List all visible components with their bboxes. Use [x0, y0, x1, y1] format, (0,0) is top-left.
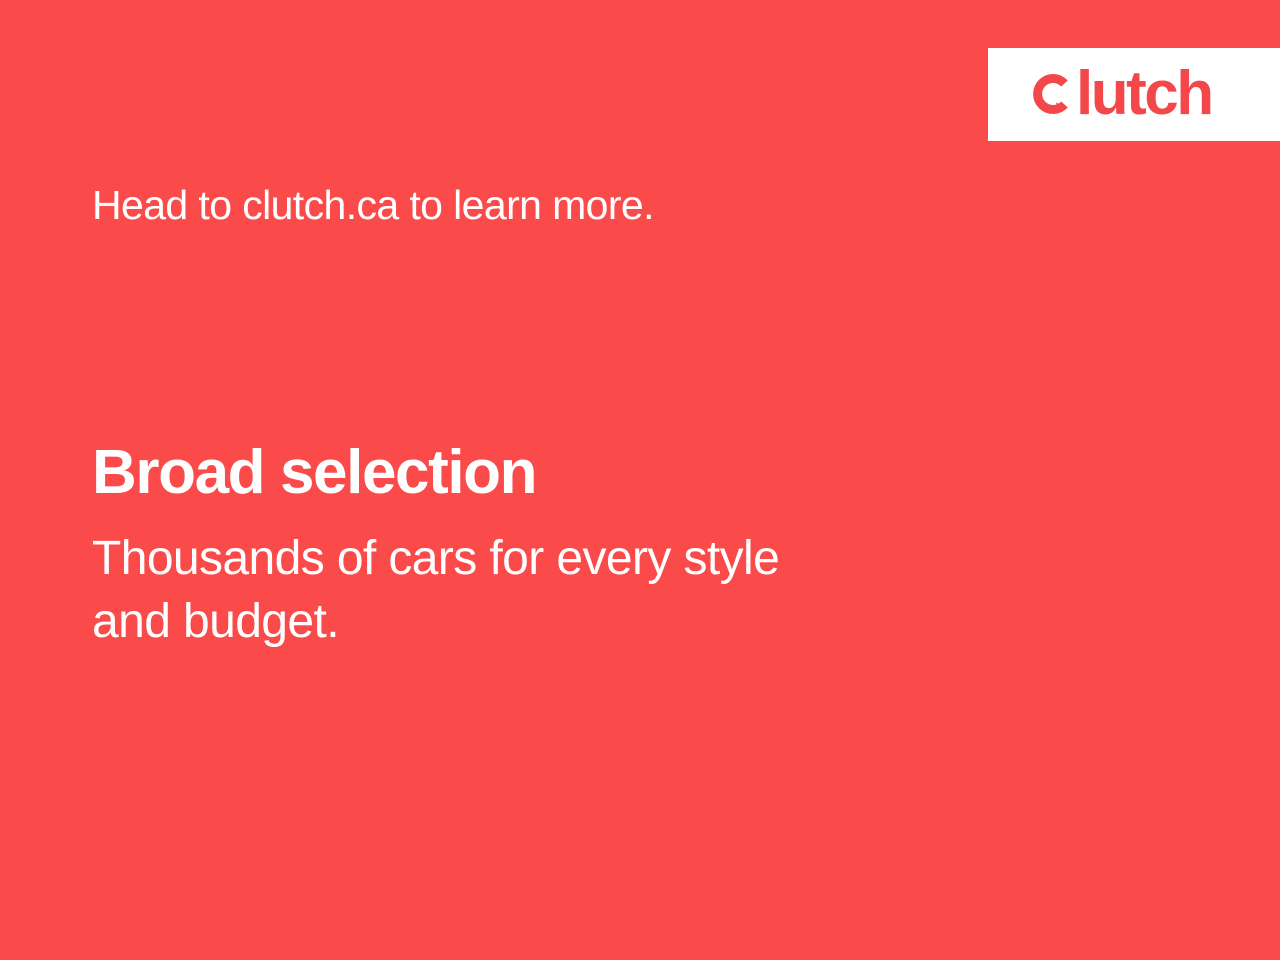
slide-canvas: lutch Head to clutch.ca to learn more. B… — [0, 0, 1280, 960]
subhead-line-2: and budget. — [92, 590, 1052, 653]
clutch-c-mark-icon — [1028, 71, 1072, 119]
page-title: Broad selection — [92, 440, 1092, 505]
clutch-logo-plate[interactable]: lutch — [988, 48, 1280, 141]
subhead-text: Thousands of cars for every style and bu… — [92, 527, 1052, 654]
clutch-wordmark: lutch — [1076, 70, 1212, 118]
eyebrow-text: Head to clutch.ca to learn more. — [92, 182, 654, 229]
clutch-logo-lockup: lutch — [1028, 66, 1212, 124]
subhead-line-1: Thousands of cars for every style — [92, 527, 1052, 590]
headline-block: Broad selection Thousands of cars for ev… — [92, 440, 1092, 654]
